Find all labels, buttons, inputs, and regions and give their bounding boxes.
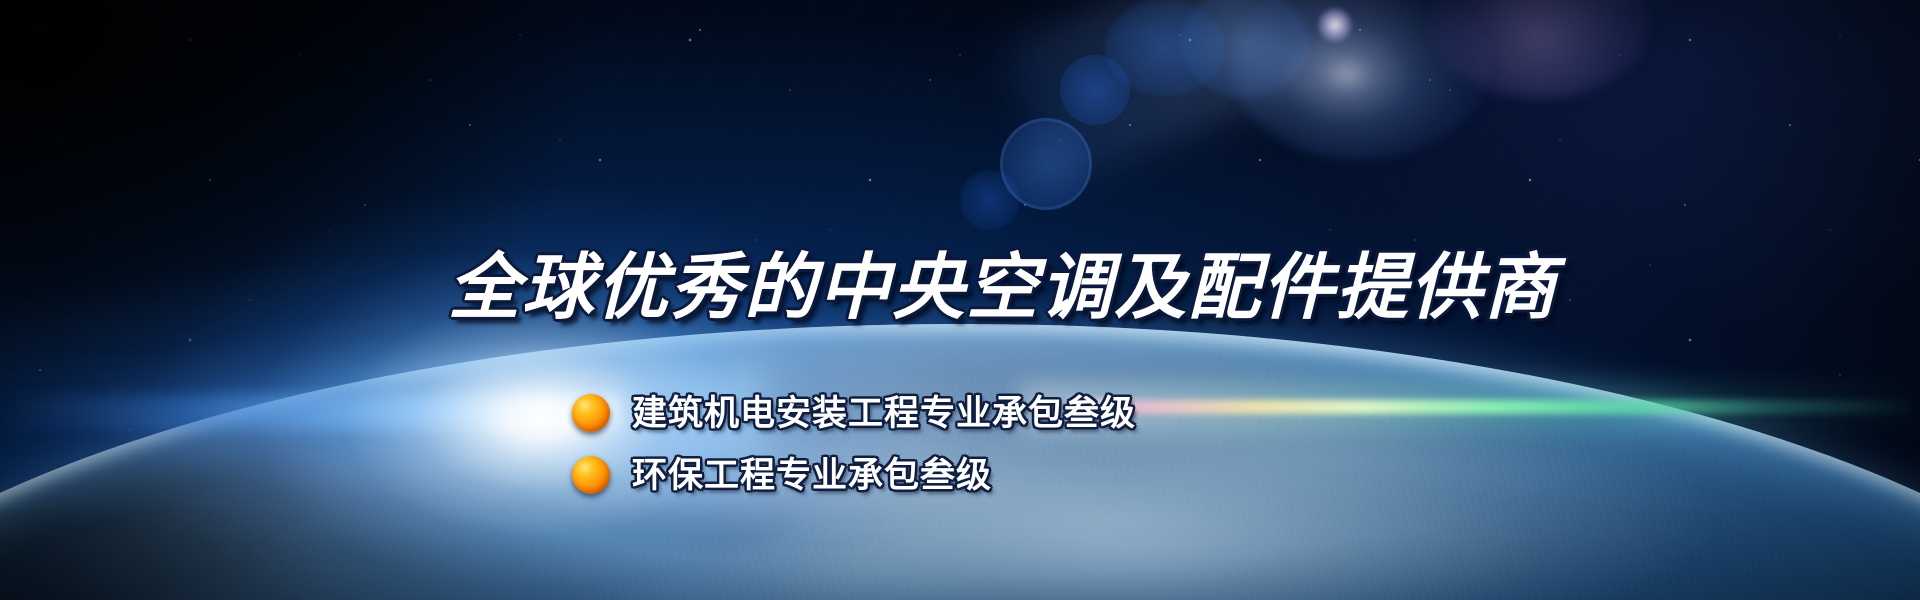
qualification-label: 建筑机电安装工程专业承包叁级	[632, 396, 1136, 431]
orange-sphere-bullet-icon	[572, 456, 610, 494]
qualification-list: 建筑机电安装工程专业承包叁级 环保工程专业承包叁级	[572, 382, 1136, 506]
list-item: 环保工程专业承包叁级	[572, 444, 1136, 506]
hero-banner: 全球优秀的中央空调及配件提供商 建筑机电安装工程专业承包叁级 环保工程专业承包叁…	[0, 0, 1920, 600]
orange-sphere-bullet-icon	[572, 394, 610, 432]
list-item: 建筑机电安装工程专业承包叁级	[572, 382, 1136, 444]
banner-headline: 全球优秀的中央空调及配件提供商	[448, 252, 1558, 324]
banner-content: 全球优秀的中央空调及配件提供商 建筑机电安装工程专业承包叁级 环保工程专业承包叁…	[0, 0, 1920, 600]
qualification-label: 环保工程专业承包叁级	[632, 458, 992, 493]
